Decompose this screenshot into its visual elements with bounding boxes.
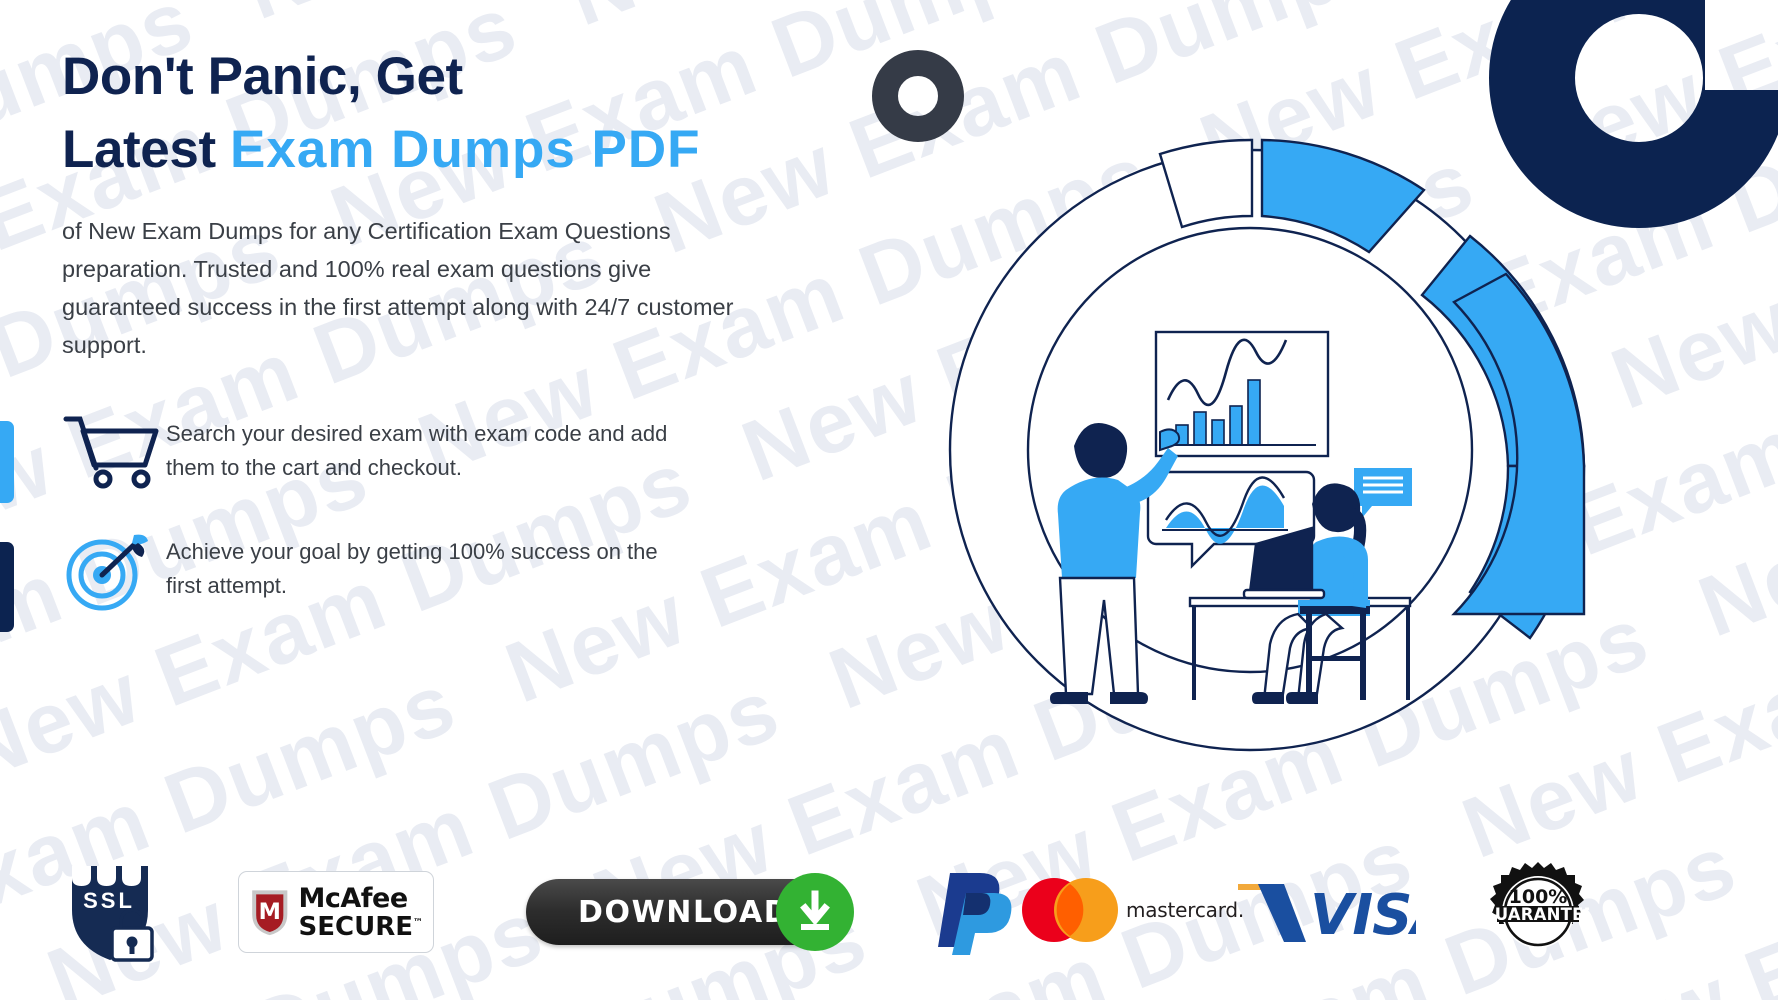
download-button-label: DOWNLOAD xyxy=(578,895,790,930)
promo-copy-column: Don't Panic, Get Latest Exam Dumps PDF o… xyxy=(62,40,762,653)
download-arrow-icon xyxy=(776,873,854,951)
visa-logo-icon: VISA xyxy=(1236,874,1416,950)
ssl-shield-lock-icon: SSL xyxy=(62,860,158,964)
feature-list: Search your desired exam with exam code … xyxy=(62,413,762,611)
page-title: Don't Panic, Get Latest Exam Dumps PDF xyxy=(62,40,762,186)
left-accent-bar-navy xyxy=(0,542,14,632)
list-item: Achieve your goal by getting 100% succes… xyxy=(62,531,762,611)
guarantee-seal-icon: 100% GUARANTEE xyxy=(1486,861,1590,963)
headline-line-2-accent: Exam Dumps PDF xyxy=(230,120,701,179)
mcafee-line-2: SECURE xyxy=(299,912,413,942)
list-item: Search your desired exam with exam code … xyxy=(62,413,762,489)
lede-paragraph: of New Exam Dumps for any Certification … xyxy=(62,212,752,364)
mcafee-shield-icon: M xyxy=(249,881,291,943)
list-item-label: Search your desired exam with exam code … xyxy=(166,413,686,487)
promo-banner: New Exam DumpsNew Exam DumpsNew Exam Dum… xyxy=(0,0,1778,1000)
target-dart-icon xyxy=(62,531,166,611)
list-item-label: Achieve your goal by getting 100% succes… xyxy=(166,531,686,605)
svg-text:M: M xyxy=(259,899,281,925)
svg-text:VISA: VISA xyxy=(1310,883,1416,948)
mastercard-wordmark: mastercard. xyxy=(1126,898,1244,922)
mcafee-line-1: McAfee xyxy=(299,885,423,912)
trust-badge-strip: SSL M McAfee SECURE™ DO xyxy=(62,852,1722,972)
trademark-symbol: ™ xyxy=(413,917,423,928)
mastercard-circles-icon xyxy=(1014,876,1126,949)
left-accent-bar-blue xyxy=(0,421,14,503)
headline-line-2-plain: Latest xyxy=(62,120,230,179)
mastercard-logo: mastercard. xyxy=(1070,876,1188,949)
mcafee-secure-badge: M McAfee SECURE™ xyxy=(238,871,434,953)
shopping-cart-icon xyxy=(62,413,166,489)
headline-line-1: Don't Panic, Get xyxy=(62,47,463,106)
svg-text:GUARANTEE: GUARANTEE xyxy=(1487,905,1589,924)
download-button[interactable]: DOWNLOAD xyxy=(526,879,848,945)
paypal-logo-icon xyxy=(938,867,1014,957)
data-analytics-donut-chart-illustration xyxy=(860,100,1760,820)
